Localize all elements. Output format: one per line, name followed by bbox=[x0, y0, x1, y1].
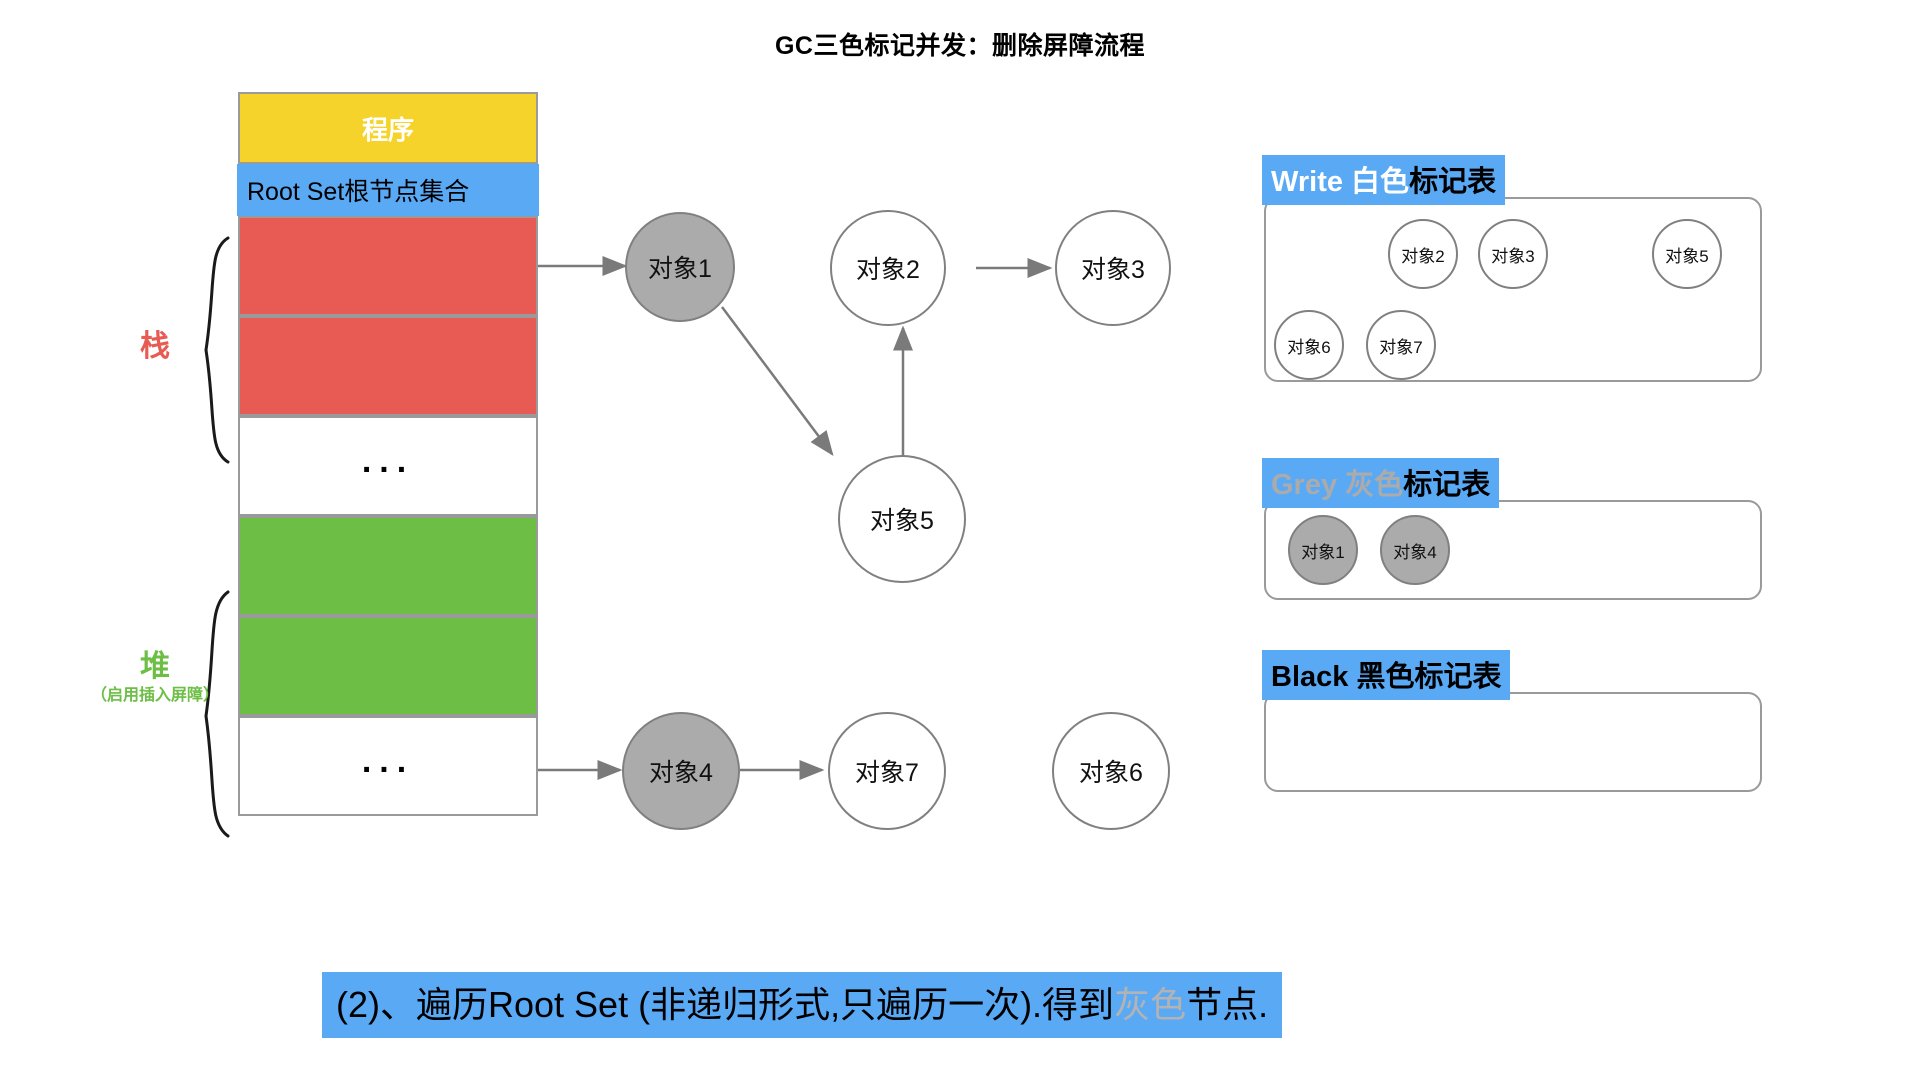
caption-suffix: 节点. bbox=[1186, 984, 1268, 1025]
black-title-cn: 黑色 bbox=[1356, 661, 1414, 693]
node-obj2-label: 对象2 bbox=[856, 250, 920, 286]
program-block: 程序 bbox=[238, 92, 538, 164]
heap-slot-2 bbox=[238, 616, 538, 716]
write-title-en: Write bbox=[1271, 166, 1343, 198]
node-obj4-label: 对象4 bbox=[649, 753, 713, 789]
write-chip-obj2-label: 对象2 bbox=[1401, 242, 1444, 267]
grey-chip-obj4-label: 对象4 bbox=[1393, 538, 1436, 563]
black-mark-table-box bbox=[1264, 692, 1762, 792]
page-title: GC三色标记并发：删除屏障流程 bbox=[0, 26, 1920, 62]
stack-slot-2 bbox=[238, 316, 538, 416]
heap-ellipsis: ... bbox=[238, 716, 538, 816]
write-title-cn: 白色 bbox=[1351, 166, 1409, 198]
black-title-en: Black bbox=[1271, 661, 1348, 693]
black-mark-table-title: Black 黑色标记表 bbox=[1262, 650, 1510, 700]
heap-label: 堆 （启用插入屏障） bbox=[60, 650, 250, 705]
grey-chip-obj1-label: 对象1 bbox=[1301, 538, 1344, 563]
write-chip-obj5-label: 对象5 bbox=[1665, 242, 1708, 267]
write-chip-obj3[interactable]: 对象3 bbox=[1478, 219, 1548, 289]
node-obj5-label: 对象5 bbox=[870, 501, 934, 537]
write-mark-table-title: Write 白色标记表 bbox=[1262, 155, 1505, 205]
node-obj1[interactable]: 对象1 bbox=[625, 212, 735, 322]
heap-brace bbox=[206, 592, 228, 836]
grey-mark-table-title: Grey 灰色标记表 bbox=[1262, 458, 1499, 508]
memory-column: 程序 Root Set根节点集合 ... ... bbox=[238, 92, 538, 816]
black-title-tail: 标记表 bbox=[1414, 661, 1501, 693]
node-obj2[interactable]: 对象2 bbox=[830, 210, 946, 326]
caption-prefix: (2)、遍历Root Set (非递归形式,只遍历一次).得到 bbox=[336, 984, 1114, 1025]
grey-chip-obj4[interactable]: 对象4 bbox=[1380, 515, 1450, 585]
node-obj6-label: 对象6 bbox=[1079, 753, 1143, 789]
write-chip-obj6[interactable]: 对象6 bbox=[1274, 310, 1344, 380]
caption-grey-word: 灰色 bbox=[1114, 984, 1186, 1025]
write-chip-obj3-label: 对象3 bbox=[1491, 242, 1534, 267]
root-set-block: Root Set根节点集合 bbox=[237, 164, 539, 216]
grey-title-tail: 标记表 bbox=[1403, 469, 1490, 501]
edge-obj1-to-obj5 bbox=[722, 307, 832, 454]
grey-title-en: Grey bbox=[1271, 469, 1337, 501]
node-obj3[interactable]: 对象3 bbox=[1055, 210, 1171, 326]
grey-chip-obj1[interactable]: 对象1 bbox=[1288, 515, 1358, 585]
grey-title-cn: 灰色 bbox=[1345, 469, 1403, 501]
write-chip-obj6-label: 对象6 bbox=[1287, 333, 1330, 358]
write-chip-obj7[interactable]: 对象7 bbox=[1366, 310, 1436, 380]
node-obj7[interactable]: 对象7 bbox=[828, 712, 946, 830]
stack-slot-1 bbox=[238, 216, 538, 316]
stack-ellipsis: ... bbox=[238, 416, 538, 516]
node-obj7-label: 对象7 bbox=[855, 753, 919, 789]
heap-label-sub: （启用插入屏障） bbox=[60, 687, 250, 705]
write-chip-obj7-label: 对象7 bbox=[1379, 333, 1422, 358]
node-obj3-label: 对象3 bbox=[1081, 250, 1145, 286]
node-obj5[interactable]: 对象5 bbox=[838, 455, 966, 583]
write-title-tail: 标记表 bbox=[1409, 166, 1496, 198]
write-chip-obj5[interactable]: 对象5 bbox=[1652, 219, 1722, 289]
node-obj6[interactable]: 对象6 bbox=[1052, 712, 1170, 830]
node-obj1-label: 对象1 bbox=[648, 249, 712, 285]
heap-label-main: 堆 bbox=[140, 650, 170, 683]
node-obj4[interactable]: 对象4 bbox=[622, 712, 740, 830]
step-caption: (2)、遍历Root Set (非递归形式,只遍历一次).得到灰色节点. bbox=[322, 972, 1282, 1038]
stack-label: 栈 bbox=[100, 330, 210, 365]
heap-slot-1 bbox=[238, 516, 538, 616]
write-chip-obj2[interactable]: 对象2 bbox=[1388, 219, 1458, 289]
